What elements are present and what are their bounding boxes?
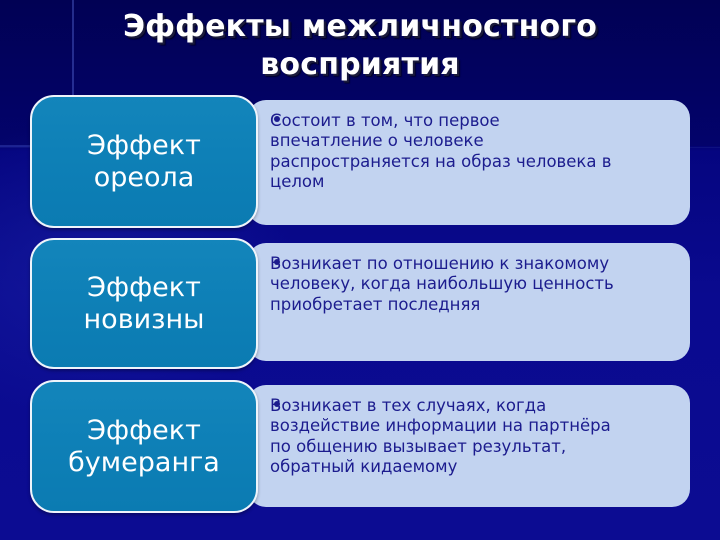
effect-label-box[interactable]: Эффект новизны xyxy=(30,238,258,369)
description-lines: Состоит в том, что первое впечатление о … xyxy=(270,111,676,193)
description-text: Возникает по отношению к знакомому челов… xyxy=(270,254,676,315)
effect-label-line: ореола xyxy=(87,162,201,193)
description-panel: Состоит в том, что первое впечатление о … xyxy=(248,100,690,225)
description-line: Состоит в том, что первое xyxy=(270,111,676,131)
description-text: Состоит в том, что первое впечатление о … xyxy=(270,111,676,193)
description-text: Возникает в тех случаях, когда воздейств… xyxy=(270,396,676,478)
description-line: по общению вызывает результат, xyxy=(270,437,676,457)
description-lines: Возникает в тех случаях, когда воздейств… xyxy=(270,396,676,478)
description-line: обратный кидаемому xyxy=(270,457,676,477)
description-line: впечатление о человеке xyxy=(270,131,676,151)
effect-label-box[interactable]: Эффект бумеранга xyxy=(30,380,258,513)
description-line: распространяется на образ человека в xyxy=(270,152,676,172)
description-line: воздействие информации на партнёра xyxy=(270,416,676,436)
effect-label-text: Эффект новизны xyxy=(84,272,205,335)
content-row: Возникает по отношению к знакомому челов… xyxy=(0,238,720,369)
slide-title-line-1: Эффекты межличностного xyxy=(123,9,597,44)
description-line: Возникает в тех случаях, когда xyxy=(270,396,676,416)
bullet-icon xyxy=(274,116,280,122)
effect-label-line: Эффект xyxy=(68,415,220,446)
description-lines: Возникает по отношению к знакомому челов… xyxy=(270,254,676,315)
effect-label-line: Эффект xyxy=(87,130,201,161)
effect-label-line: Эффект xyxy=(84,272,205,303)
bullet-icon xyxy=(274,401,280,407)
effect-label-line: новизны xyxy=(84,304,205,335)
presentation-slide: Эффекты межличностного восприятия Состои… xyxy=(0,0,720,540)
effect-label-text: Эффект бумеранга xyxy=(68,415,220,478)
content-row: Состоит в том, что первое впечатление о … xyxy=(0,95,720,228)
effect-label-line: бумеранга xyxy=(68,447,220,478)
description-line: человеку, когда наибольшую ценность xyxy=(270,274,676,294)
content-row: Возникает в тех случаях, когда воздейств… xyxy=(0,380,720,513)
bullet-icon xyxy=(274,259,280,265)
description-panel: Возникает по отношению к знакомому челов… xyxy=(248,243,690,361)
description-line: целом xyxy=(270,172,676,192)
effect-label-text: Эффект ореола xyxy=(87,130,201,193)
effect-label-box[interactable]: Эффект ореола xyxy=(30,95,258,228)
slide-title: Эффекты межличностного восприятия xyxy=(40,8,680,83)
description-line: приобретает последняя xyxy=(270,295,676,315)
description-panel: Возникает в тех случаях, когда воздейств… xyxy=(248,385,690,507)
description-line: Возникает по отношению к знакомому xyxy=(270,254,676,274)
slide-title-line-2: восприятия xyxy=(260,47,460,82)
